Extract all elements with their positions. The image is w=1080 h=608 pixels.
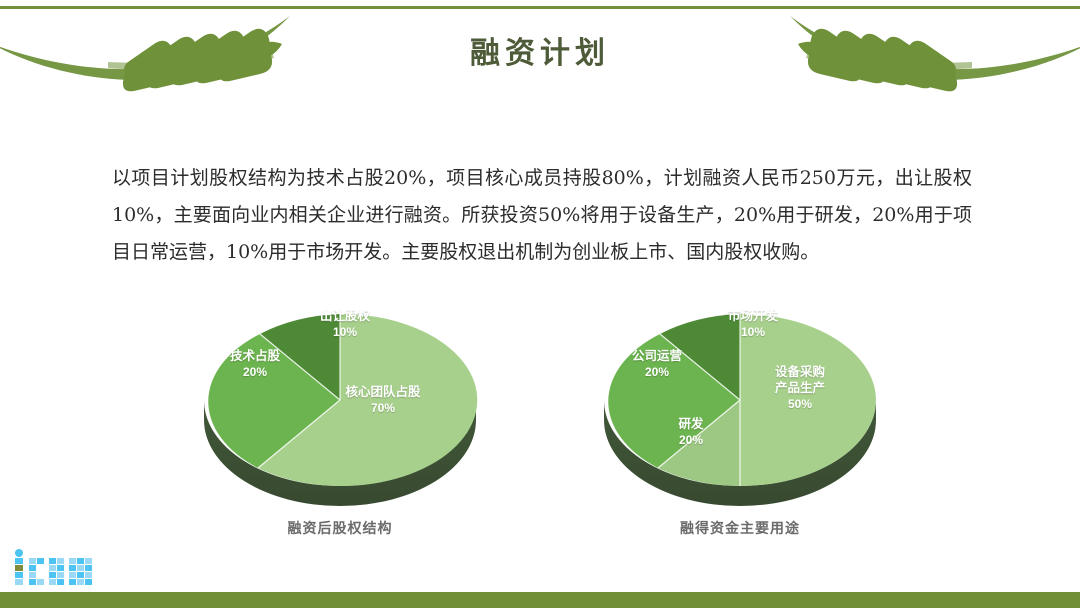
chart-caption-equity-structure: 融资后股权结构 (190, 518, 490, 538)
pie-chart-equity-structure: 出让股权 10% 技术占股 20% 核心团队占股 70% 融资后股权结构 (190, 292, 490, 550)
pie-chart-fund-usage: 市场开发 10% 公司运营 20% 研发 20% 设备采购 产品生产 50% 融… (590, 292, 890, 550)
chart-caption-fund-usage: 融得资金主要用途 (590, 518, 890, 538)
footer-bar (0, 592, 1080, 608)
pie-equity-structure-graphic: 出让股权 10% 技术占股 20% 核心团队占股 70% (190, 292, 490, 512)
pie-fund-usage-graphic: 市场开发 10% 公司运营 20% 研发 20% 设备采购 产品生产 50% (590, 292, 890, 512)
icom-logo (10, 548, 102, 590)
page-title: 融资计划 (0, 28, 1080, 72)
charts-area: 出让股权 10% 技术占股 20% 核心团队占股 70% 融资后股权结构 (0, 292, 1080, 550)
top-rule (0, 6, 1080, 9)
body-paragraph: 以项目计划股权结构为技术占股20%，项目核心成员持股80%，计划融资人民币250… (112, 160, 972, 271)
